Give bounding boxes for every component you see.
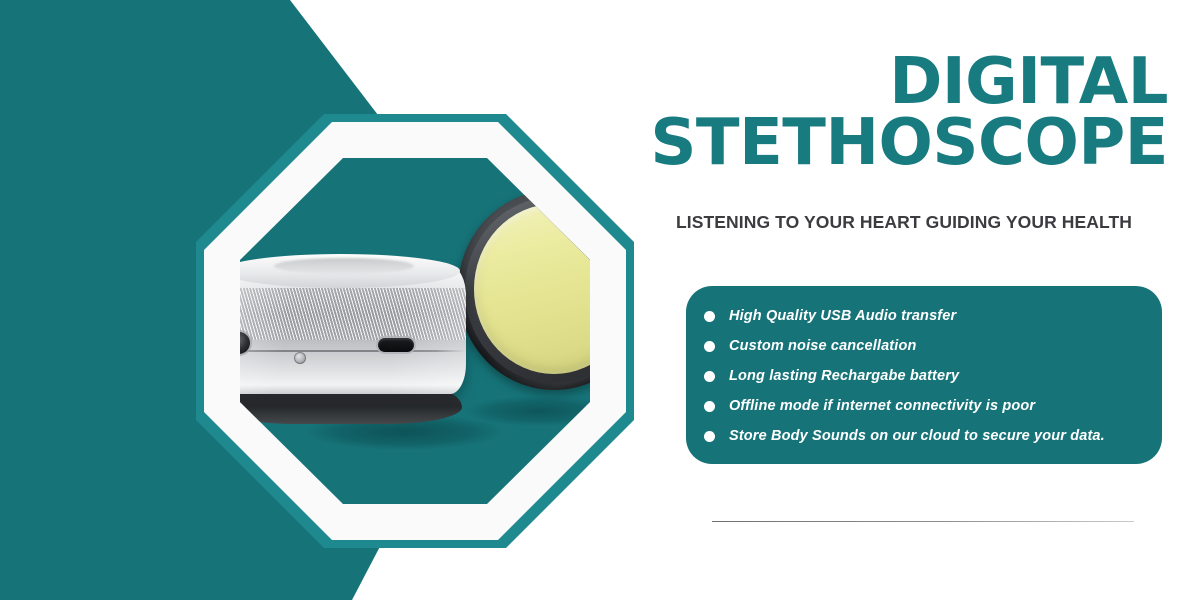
page-subtitle: LISTENING TO YOUR HEART GUIDING YOUR HEA… (640, 212, 1168, 233)
bullet-dot-icon (704, 341, 715, 352)
banner-root: DIGITAL STETHOSCOPE LISTENING TO YOUR HE… (0, 0, 1200, 600)
feature-list-panel: High Quality USB Audio transfer Custom n… (686, 286, 1162, 464)
title-line-1: DIGITAL (640, 52, 1168, 113)
octagon-badge-frame (196, 114, 634, 548)
title-line-2: STETHOSCOPE (640, 113, 1168, 174)
content-column: DIGITAL STETHOSCOPE LISTENING TO YOUR HE… (640, 0, 1200, 600)
list-item: Custom noise cancellation (696, 334, 1144, 358)
feature-label: Long lasting Rechargabe battery (729, 368, 959, 384)
bullet-dot-icon (704, 371, 715, 382)
list-item: Store Body Sounds on our cloud to secure… (696, 424, 1144, 448)
page-title: DIGITAL STETHOSCOPE (640, 52, 1168, 175)
bullet-dot-icon (704, 311, 715, 322)
bullet-dot-icon (704, 431, 715, 442)
list-item: Long lasting Rechargabe battery (696, 364, 1144, 388)
feature-label: Offline mode if internet connectivity is… (729, 398, 1035, 414)
bullet-dot-icon (704, 401, 715, 412)
feature-label: Custom noise cancellation (729, 338, 916, 354)
feature-list: High Quality USB Audio transfer Custom n… (696, 304, 1144, 448)
feature-label: Store Body Sounds on our cloud to secure… (729, 428, 1105, 444)
list-item: Offline mode if internet connectivity is… (696, 394, 1144, 418)
bottom-divider (712, 521, 1134, 522)
feature-label: High Quality USB Audio transfer (729, 308, 956, 324)
list-item: High Quality USB Audio transfer (696, 304, 1144, 328)
octagon-inner-fill (240, 158, 590, 504)
